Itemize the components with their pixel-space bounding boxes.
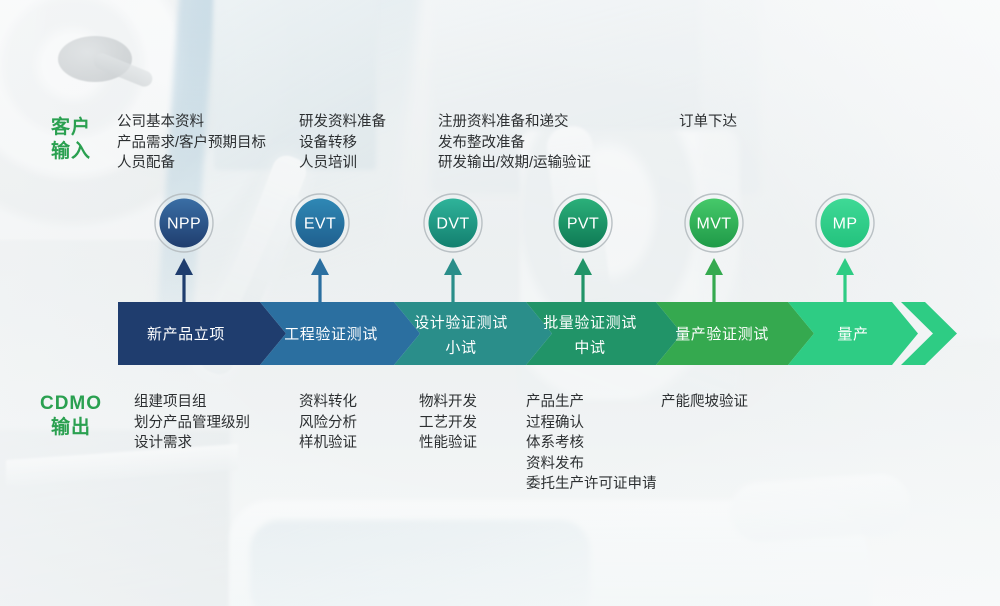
milestone-node-evt[interactable]: EVT: [291, 194, 349, 252]
milestone-node-evt-label: EVT: [304, 216, 336, 233]
process-segment-pvt-label-0: 批量验证测试: [543, 315, 637, 332]
process-segment-mp-label-0: 量产: [837, 326, 868, 343]
process-segment-pvt-label-1: 中试: [574, 340, 605, 357]
connector-arrow-evt: [311, 258, 329, 302]
milestone-node-mp[interactable]: MP: [816, 194, 874, 252]
connector-arrow-pvt: [574, 258, 592, 302]
milestone-node-pvt[interactable]: PVT: [554, 194, 612, 252]
connector-arrow-dvt: [444, 258, 462, 302]
milestone-nodes: NPPEVTDVTPVTMVTMP: [155, 194, 874, 252]
milestone-node-mvt[interactable]: MVT: [685, 194, 743, 252]
connector-arrow-mvt: [705, 258, 723, 302]
connector-arrows: [175, 258, 854, 302]
infographic-canvas: 客户 输入 CDMO 输出 公司基本资料产品需求/客户预期目标人员配备研发资料准…: [0, 0, 1000, 606]
milestone-node-npp[interactable]: NPP: [155, 194, 213, 252]
process-segment-mvt-label-0: 量产验证测试: [675, 326, 769, 343]
process-segment-dvt-label-1: 小试: [445, 340, 476, 357]
milestone-node-dvt[interactable]: DVT: [424, 194, 482, 252]
process-flow-graphic: 新产品立项工程验证测试设计验证测试小试批量验证测试中试量产验证测试量产 NPPE…: [0, 0, 1000, 606]
process-segments: 新产品立项工程验证测试设计验证测试小试批量验证测试中试量产验证测试量产: [118, 302, 918, 365]
connector-arrow-npp: [175, 258, 193, 302]
process-segment-npp-label-0: 新产品立项: [147, 326, 225, 343]
process-segment-evt-label-0: 工程验证测试: [284, 326, 378, 343]
milestone-node-pvt-label: PVT: [567, 216, 599, 233]
milestone-node-npp-label: NPP: [167, 216, 201, 233]
milestone-node-dvt-label: DVT: [436, 216, 469, 233]
connector-arrow-mp: [836, 258, 854, 302]
process-segment-dvt-label-0: 设计验证测试: [414, 315, 508, 332]
milestone-node-mp-label: MP: [833, 216, 858, 233]
milestone-node-mvt-label: MVT: [697, 216, 732, 233]
